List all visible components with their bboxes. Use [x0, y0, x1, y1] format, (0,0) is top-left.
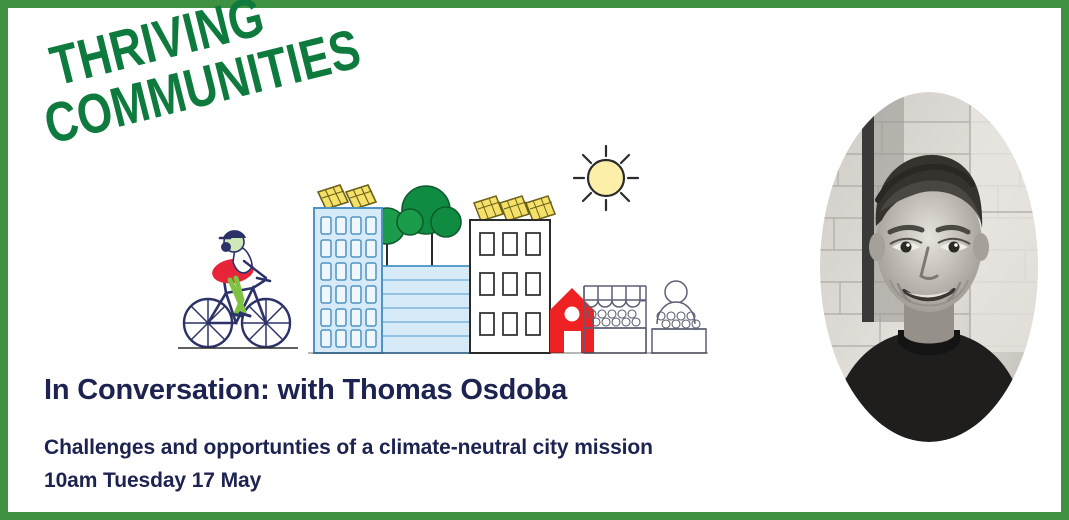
event-headline: In Conversation: with Thomas Osdoba [44, 374, 567, 407]
red-house [550, 288, 594, 353]
event-datetime: 10am Tuesday 17 May [44, 469, 261, 493]
event-subtitle: Challenges and opportunties of a climate… [44, 436, 653, 460]
market-stall-with-vendor [652, 281, 706, 353]
white-building [470, 196, 555, 353]
tall-apartment-building [314, 185, 382, 353]
sun-icon [574, 146, 638, 210]
cyclist-icon [178, 230, 298, 348]
title-line-thriving: THRIVING [45, 0, 353, 94]
sustainable-city-illustration [178, 128, 708, 363]
poster-canvas: THRIVING COMMUNITIES [0, 0, 1069, 520]
speaker-portrait [820, 92, 1038, 442]
solar-panel-icon [318, 185, 376, 209]
solar-panel-icon [474, 196, 555, 221]
